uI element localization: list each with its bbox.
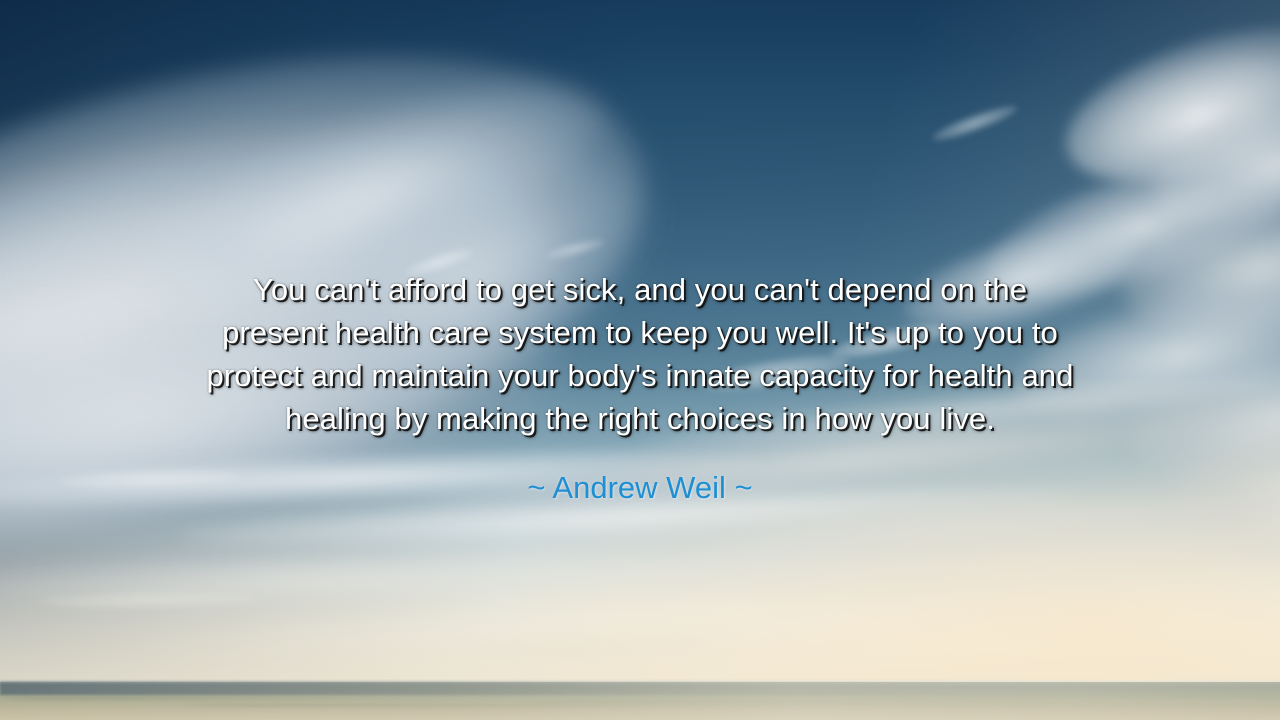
quote-wallpaper: You can't afford to get sick, and you ca… xyxy=(0,0,1280,720)
quote-line: present health care system to keep you w… xyxy=(90,311,1190,354)
quote-line: protect and maintain your body's innate … xyxy=(90,354,1190,397)
quote-line: healing by making the right choices in h… xyxy=(90,397,1190,440)
land-haze xyxy=(0,680,1280,720)
quote-line: You can't afford to get sick, and you ca… xyxy=(90,268,1190,311)
quote-text-block: You can't afford to get sick, and you ca… xyxy=(0,268,1280,440)
quote-attribution: ~ Andrew Weil ~ xyxy=(0,468,1280,508)
